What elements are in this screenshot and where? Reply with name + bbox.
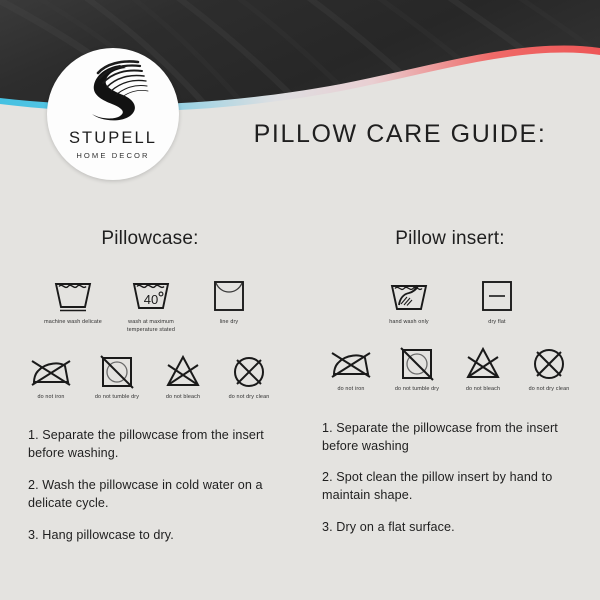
care-icon-wash-max-temperature: 40 wash at maximum temperature stated [120,272,182,335]
wash-max-temperature-40-icon: 40 [129,272,173,314]
pillow-care-guide-page: STUPELL HOME DECOR PILLOW CARE GUIDE: Pi… [0,0,600,600]
do-not-dry-clean-icon [527,339,571,381]
icon-row-insert-prohibited: do not iron do not tumble dry [300,339,600,394]
caption-hand-wash-only: hand wash only [376,319,442,327]
care-icon-line-dry: line dry [198,272,260,327]
icon-row-pillowcase-wash: machine wash delicate 40 wash at maximum… [0,272,300,335]
caption-do-not-bleach: do not bleach [450,386,516,394]
instruction-step: 3. Dry on a flat surface. [322,519,586,537]
instruction-step: 2. Spot clean the pillow insert by hand … [322,469,586,505]
hand-wash-only-icon [386,272,432,314]
do-not-tumble-dry-icon [395,339,439,381]
care-icon-do-not-tumble-dry: do not tumble dry [386,339,448,394]
caption-dry-flat: dry flat [464,319,530,327]
column-pillowcase: Pillowcase: machine wash delicate [0,228,300,545]
caption-machine-wash-delicate: machine wash delicate [40,319,106,327]
do-not-dry-clean-icon [227,347,271,389]
dry-flat-icon [477,272,517,314]
care-icon-do-not-iron: do not iron [320,339,382,394]
column-title-pillowcase: Pillowcase: [0,228,300,250]
caption-do-not-dry-clean: do not dry clean [516,386,582,394]
do-not-bleach-icon [161,347,205,389]
page-title: PILLOW CARE GUIDE: [240,120,560,149]
logo-brand-name: STUPELL [69,130,157,147]
do-not-iron-icon [28,347,74,389]
care-icon-machine-wash-delicate: machine wash delicate [42,272,104,327]
do-not-tumble-dry-icon [95,347,139,389]
caption-do-not-dry-clean: do not dry clean [216,394,282,402]
caption-do-not-bleach: do not bleach [150,394,216,402]
care-icon-do-not-bleach: do not bleach [452,339,514,394]
care-icon-hand-wash-only: hand wash only [378,272,440,327]
instruction-step: 3. Hang pillowcase to dry. [28,527,286,545]
care-icon-do-not-iron: do not iron [20,347,82,402]
instructions-pillow-insert: 1. Separate the pillowcase from the inse… [300,420,600,537]
caption-wash-max-temperature: wash at maximum temperature stated [118,319,184,335]
stupell-swoosh-icon [76,60,150,127]
instructions-pillowcase: 1. Separate the pillowcase from the inse… [0,427,300,544]
caption-do-not-tumble-dry: do not tumble dry [384,386,450,394]
care-icon-do-not-tumble-dry: do not tumble dry [86,347,148,402]
column-title-pillow-insert: Pillow insert: [300,228,600,250]
svg-text:40: 40 [144,292,158,307]
care-icon-do-not-dry-clean: do not dry clean [518,339,580,394]
care-icon-do-not-bleach: do not bleach [152,347,214,402]
brand-logo-badge: STUPELL HOME DECOR [47,48,179,180]
icon-row-pillowcase-prohibited: do not iron do not tumble dry [0,347,300,402]
caption-do-not-iron: do not iron [318,386,384,394]
care-icon-do-not-dry-clean: do not dry clean [218,347,280,402]
line-dry-icon [209,272,249,314]
caption-do-not-tumble-dry: do not tumble dry [84,394,150,402]
machine-wash-delicate-icon [51,272,95,314]
icon-row-insert-wash: hand wash only dry flat [300,272,600,327]
caption-do-not-iron: do not iron [18,394,84,402]
instruction-step: 1. Separate the pillowcase from the inse… [28,427,286,463]
caption-line-dry: line dry [196,319,262,327]
care-columns: Pillowcase: machine wash delicate [0,228,600,545]
do-not-bleach-icon [461,339,505,381]
instruction-step: 2. Wash the pillowcase in cold water on … [28,477,286,513]
column-pillow-insert: Pillow insert: hand wash only [300,228,600,545]
instruction-step: 1. Separate the pillowcase from the inse… [322,420,586,456]
care-icon-dry-flat: dry flat [466,272,528,327]
do-not-iron-icon [328,339,374,381]
logo-tagline: HOME DECOR [76,152,149,160]
